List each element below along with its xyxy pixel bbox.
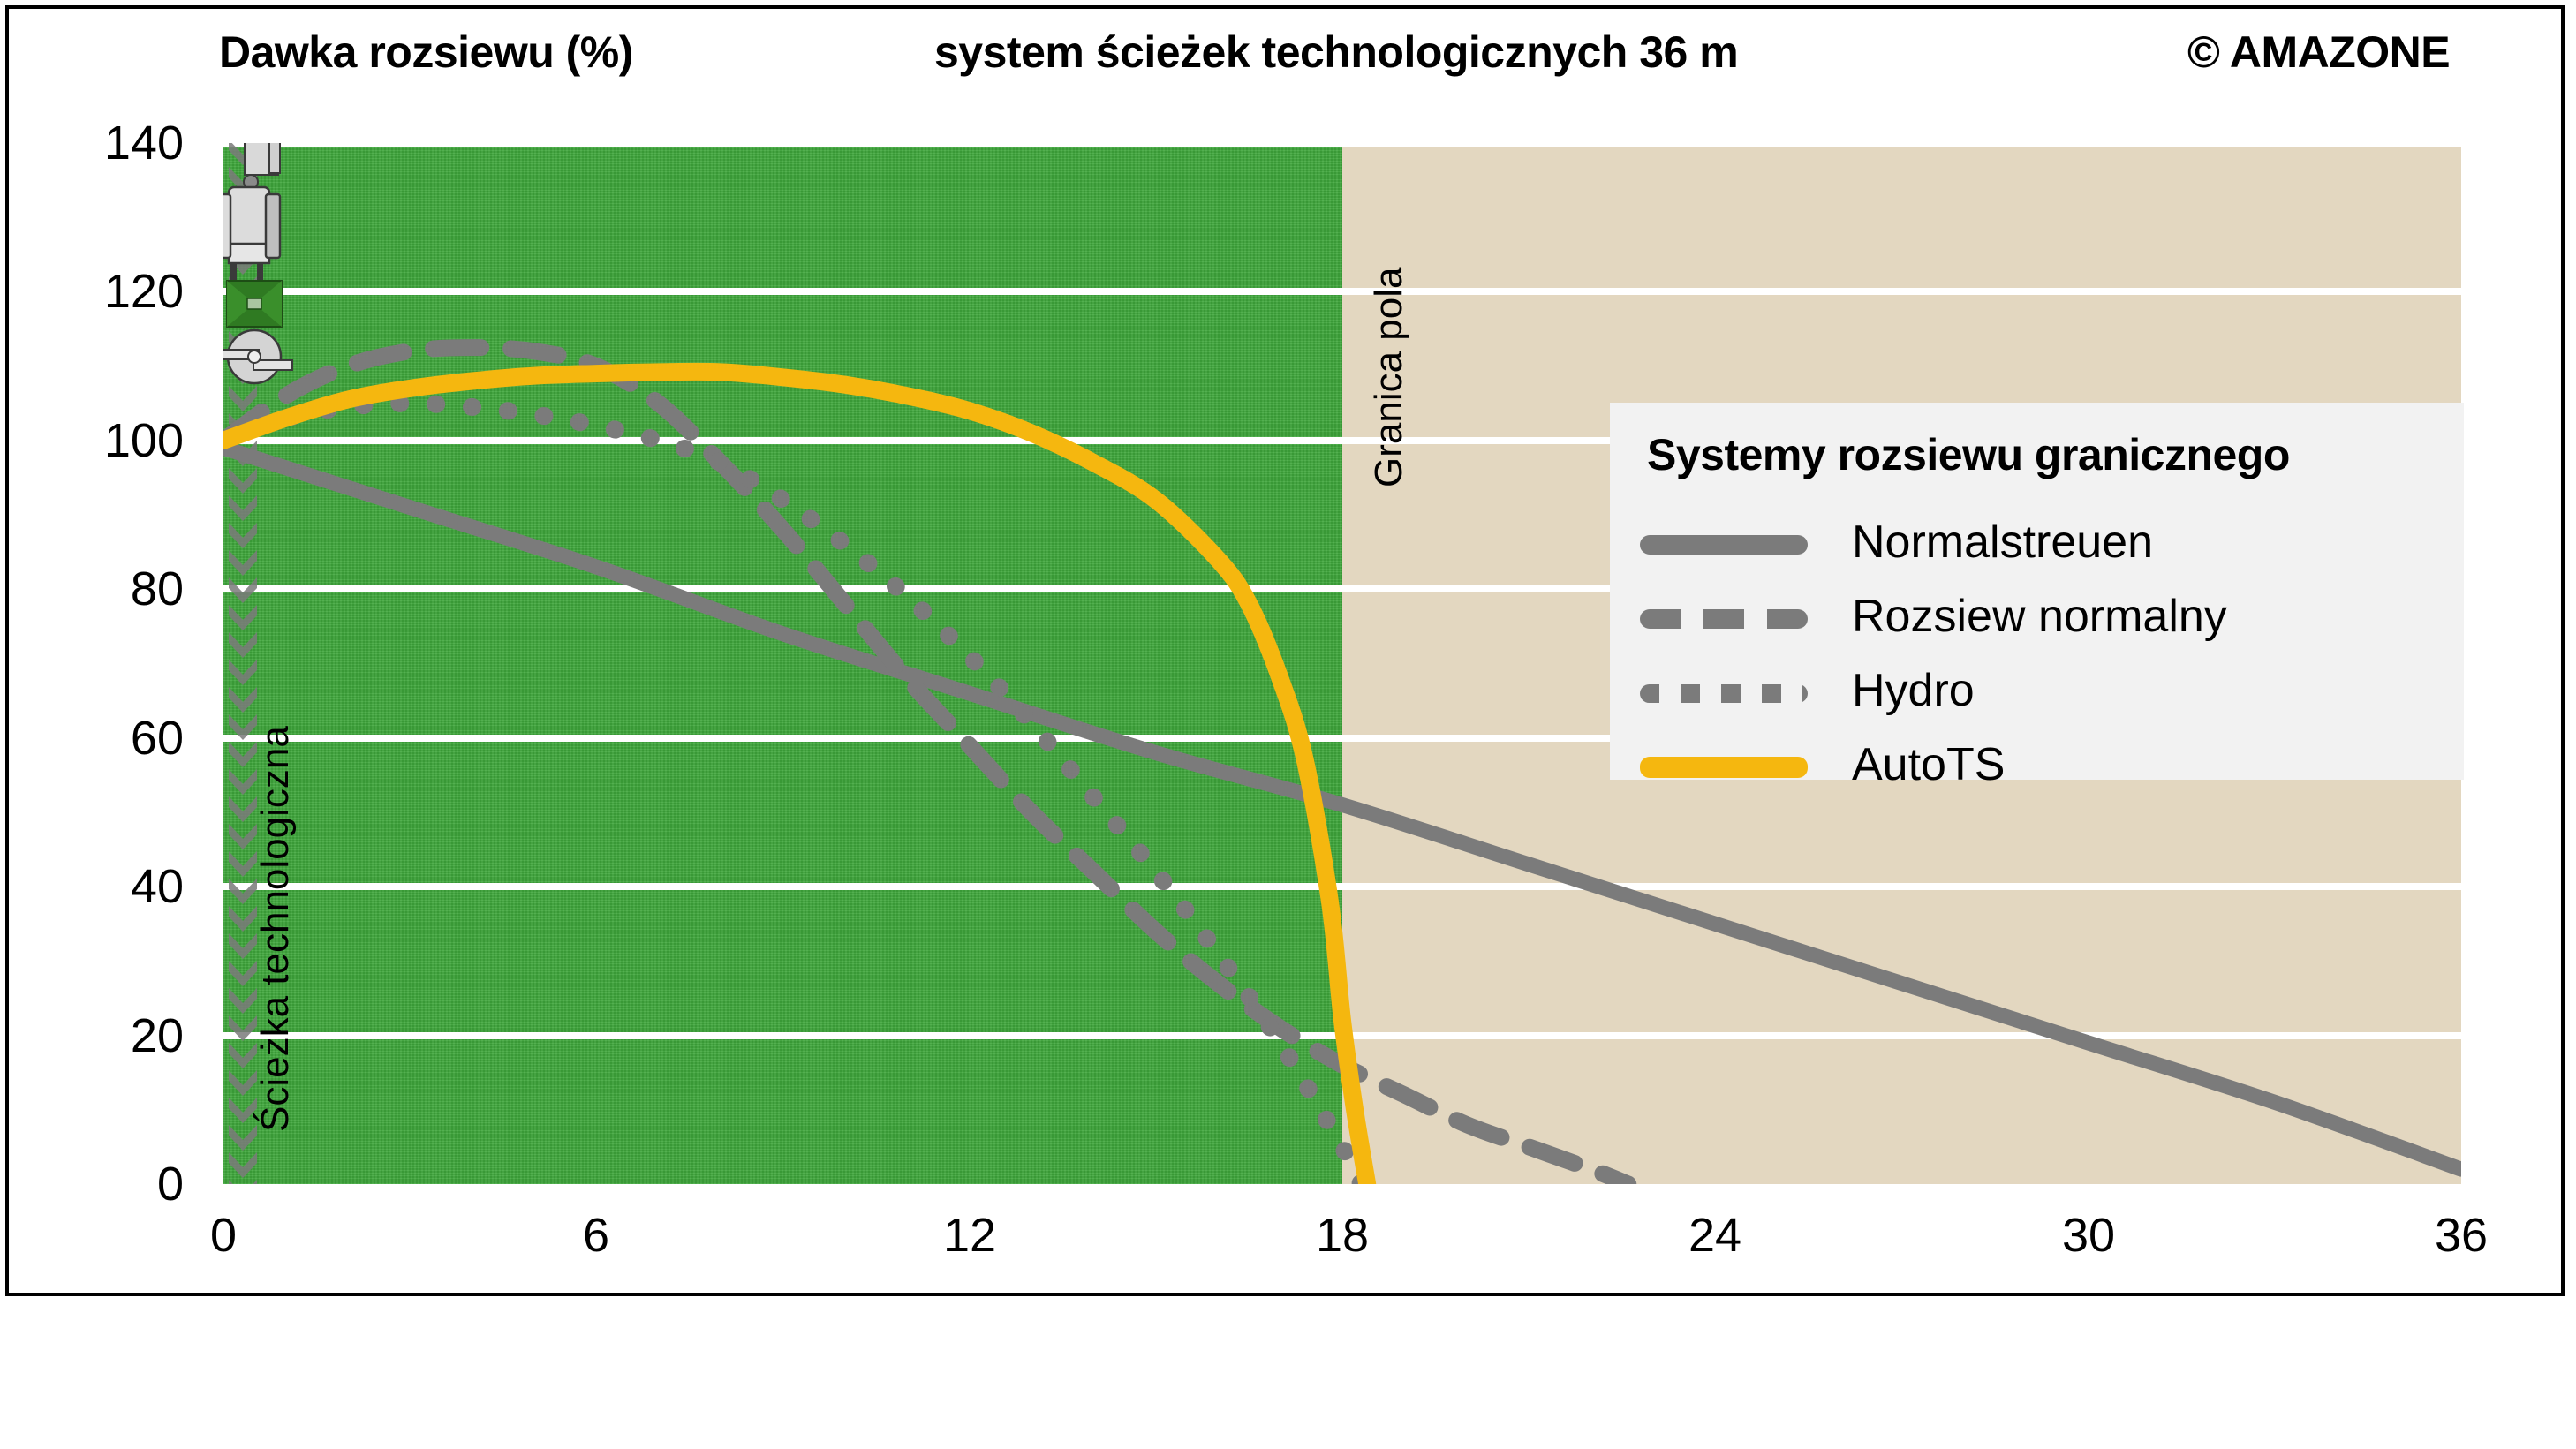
series-rozsiew-normalny (223, 348, 1628, 1184)
legend-label-hydro: Hydro (1852, 655, 1975, 726)
x-tick-18: 18 (1263, 1209, 1422, 1262)
spreader-machine-icon (223, 143, 317, 390)
y-tick-0: 0 (0, 1160, 184, 1208)
tramline-label: Ścieżka technologiczna (253, 726, 298, 1132)
x-tick-0: 0 (144, 1209, 303, 1262)
legend-swatch-solid-orange (1640, 757, 1808, 778)
x-tick-6: 6 (517, 1209, 676, 1262)
y-tick-100: 100 (0, 417, 184, 464)
y-tick-40: 40 (0, 863, 184, 910)
legend-title: Systemy rozsiewu granicznego (1647, 429, 2290, 480)
legend-swatch-solid-gray (1640, 535, 1808, 555)
x-tick-30: 30 (2009, 1209, 2168, 1262)
legend-label-normalstreuen: Normalstreuen (1852, 507, 2153, 577)
legend-swatch-dashed-gray (1640, 609, 1808, 629)
legend-item-normalstreuen[interactable]: Normalstreuen (1640, 510, 2435, 581)
legend-label-rozsiew-normalny: Rozsiew normalny (1852, 581, 2227, 652)
legend-swatch-dotted-gray (1640, 684, 1808, 703)
series-autots (223, 372, 1367, 1184)
legend-label-autots: AutoTS (1852, 729, 2005, 800)
y-tick-80: 80 (0, 565, 184, 613)
legend-item-hydro[interactable]: Hydro (1640, 659, 2435, 729)
plot-wrapper: Ścieżka technologiczna Granica pola 140 … (0, 0, 2576, 1449)
x-tick-36: 36 (2382, 1209, 2541, 1262)
chart-figure: Dawka rozsiewu (%) system ścieżek techno… (0, 0, 2576, 1449)
y-tick-20: 20 (0, 1012, 184, 1060)
legend-box: Systemy rozsiewu granicznego Normalstreu… (1610, 403, 2464, 780)
y-tick-60: 60 (0, 714, 184, 762)
x-tick-12: 12 (890, 1209, 1049, 1262)
field-border-label: Granica pola (1367, 268, 1411, 487)
y-tick-140: 140 (0, 119, 184, 167)
legend-item-autots[interactable]: AutoTS (1640, 733, 2435, 804)
legend-item-rozsiew-normalny[interactable]: Rozsiew normalny (1640, 585, 2435, 655)
y-tick-120: 120 (0, 268, 184, 315)
x-tick-24: 24 (1635, 1209, 1794, 1262)
